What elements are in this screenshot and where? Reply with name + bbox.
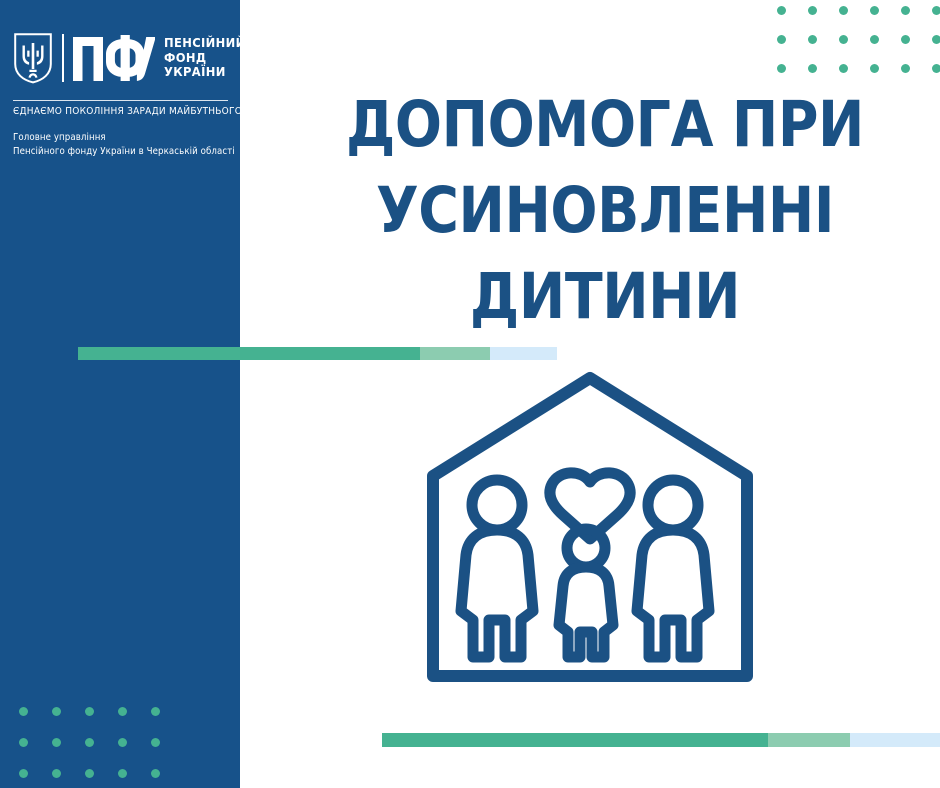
decor-dot (932, 64, 940, 73)
adult-right-figure (637, 480, 709, 657)
department-line-1: Головне управління (13, 131, 225, 145)
decor-dot (118, 738, 127, 747)
decor-dot (85, 707, 94, 716)
decor-dot (118, 769, 127, 778)
child-figure (559, 529, 613, 657)
decor-dot (19, 707, 28, 716)
decor-dot (52, 769, 61, 778)
pfu-logo-words: ПЕНСІЙНИЙ ФОНД УКРАЇНИ (164, 36, 246, 80)
decor-dot (870, 6, 879, 15)
poster-canvas: ПЕНСІЙНИЙ ФОНД УКРАЇНИ ЄДНАЄМО ПОКОЛІННЯ… (0, 0, 940, 788)
house-family-heart-icon (425, 370, 755, 690)
accent-bar-top-segment-green (78, 347, 420, 360)
pfu-word-line-3: УКРАЇНИ (164, 65, 246, 80)
decor-dot (932, 6, 940, 15)
accent-bar-bottom (382, 733, 940, 747)
decor-dot (19, 769, 28, 778)
pfu-abbreviation-mark (73, 35, 155, 81)
decor-dot (901, 6, 910, 15)
decor-dot (151, 769, 160, 778)
decor-dot (777, 35, 786, 44)
accent-bar-bottom-segment-pale-blue (850, 733, 940, 747)
pfu-word-line-2: ФОНД (164, 51, 246, 66)
decor-dot (85, 738, 94, 747)
decor-dot (839, 35, 848, 44)
decor-dot (901, 35, 910, 44)
decor-dot (839, 6, 848, 15)
decor-dot (85, 769, 94, 778)
dot-grid-topright (777, 6, 940, 93)
pfu-logo-lockup: ПЕНСІЙНИЙ ФОНД УКРАЇНИ (13, 27, 233, 89)
decor-dot (151, 738, 160, 747)
sidebar-divider-rule (13, 100, 228, 101)
decor-dot (808, 64, 817, 73)
sidebar-department-caption: Головне управління Пенсійного фонду Укра… (13, 131, 225, 159)
dot-grid-bottomleft (19, 707, 184, 788)
decor-dot (777, 6, 786, 15)
decor-dot (901, 64, 910, 73)
decor-dot (870, 35, 879, 44)
decor-dot (151, 707, 160, 716)
decor-dot (118, 707, 127, 716)
decor-dot (777, 64, 786, 73)
accent-bar-bottom-segment-green (382, 733, 768, 747)
decor-dot (932, 35, 940, 44)
decor-dot (52, 738, 61, 747)
page-title: ДОПОМОГА ПРИ УСИНОВЛЕННІ ДИТИНИ (337, 82, 874, 340)
decor-dot (19, 738, 28, 747)
department-line-2: Пенсійного фонду України в Черкаській об… (13, 145, 225, 159)
sidebar-slogan: ЄДНАЄМО ПОКОЛІННЯ ЗАРАДИ МАЙБУТНЬОГО (13, 106, 222, 117)
logo-divider (62, 34, 64, 82)
decor-dot (870, 64, 879, 73)
decor-dot (52, 707, 61, 716)
pfu-word-line-1: ПЕНСІЙНИЙ (164, 36, 246, 51)
adult-left-figure (461, 480, 533, 657)
decor-dot (839, 64, 848, 73)
page-title-line-2: УСИНОВЛЕННІ (337, 168, 874, 254)
sidebar-panel (0, 0, 240, 788)
page-title-line-1: ДОПОМОГА ПРИ (337, 82, 874, 168)
decor-dot (808, 35, 817, 44)
accent-bar-top (78, 347, 557, 360)
ukraine-trident-shield-emblem (13, 32, 53, 84)
page-title-line-3: ДИТИНИ (337, 254, 874, 340)
decor-dot (808, 6, 817, 15)
accent-bar-bottom-segment-light-green (768, 733, 850, 747)
accent-bar-top-segment-pale-blue (490, 347, 557, 360)
accent-bar-top-segment-light-green (420, 347, 490, 360)
